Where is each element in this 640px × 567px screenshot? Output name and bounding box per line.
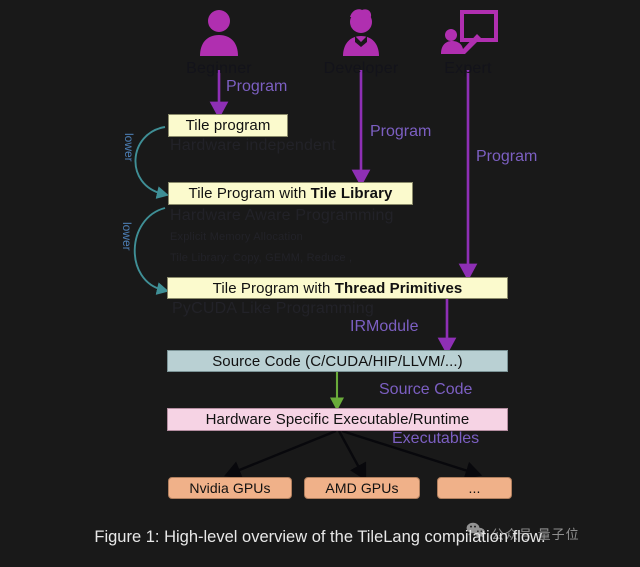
box-target-other[interactable]: ... — [437, 477, 512, 499]
box-hardware-specific-executable[interactable]: Hardware Specific Executable/Runtime — [167, 408, 508, 431]
figure-caption: Figure 1: High-level overview of the Til… — [0, 528, 640, 547]
box-tile-program[interactable]: Tile program — [168, 114, 288, 137]
box-tile-library-label: Tile Program with Tile Library — [189, 185, 393, 202]
persona-developer: Developer — [311, 8, 411, 78]
edge-label-lower-2: lower — [120, 222, 134, 251]
box-target-nvidia[interactable]: Nvidia GPUs — [168, 477, 292, 499]
arrow-lower-tile-program-to-tile-library — [135, 127, 165, 194]
edge-label-program-expert: Program — [476, 148, 537, 166]
box-tile-library[interactable]: Tile Program with Tile Library — [168, 182, 413, 205]
note-tile-library-ops: Tile Library: Copy, GEMM, Reduce , — [170, 252, 352, 264]
box-thread-primitives-bold: Thread Primitives — [335, 280, 463, 297]
edge-label-program-beginner: Program — [226, 78, 287, 96]
edge-label-source-code: Source Code — [379, 381, 472, 399]
persona-expert: Expert — [418, 8, 518, 78]
persona-label-developer: Developer — [311, 60, 411, 78]
box-tile-library-prefix: Tile Program with — [189, 185, 311, 202]
box-tile-program-label: Tile program — [186, 117, 271, 134]
edge-label-lower-1: lower — [122, 133, 136, 162]
note-pycuda-like-programming: PyCUDA Like Programming — [172, 300, 374, 318]
arrow-lower-tile-library-to-thread-primitives — [135, 208, 165, 290]
edge-label-executables: Executables — [392, 430, 479, 448]
box-target-amd-label: AMD GPUs — [325, 480, 398, 496]
box-source-code-label: Source Code (C/CUDA/HIP/LLVM/...) — [212, 353, 463, 370]
box-thread-primitives-prefix: Tile Program with — [213, 280, 335, 297]
box-target-other-label: ... — [469, 480, 481, 496]
box-thread-primitives-label: Tile Program with Thread Primitives — [213, 280, 463, 297]
box-target-nvidia-label: Nvidia GPUs — [189, 480, 270, 496]
box-executable-label: Hardware Specific Executable/Runtime — [206, 411, 470, 428]
figure-canvas: Beginner Developer Expert Program Progra… — [0, 0, 640, 567]
box-source-code[interactable]: Source Code (C/CUDA/HIP/LLVM/...) — [167, 350, 508, 372]
box-tile-library-bold: Tile Library — [311, 185, 393, 202]
developer-person-icon — [311, 8, 411, 58]
edge-label-program-developer: Program — [370, 123, 431, 141]
note-hardware-independent: Hardware independent — [170, 137, 336, 155]
box-thread-primitives[interactable]: Tile Program with Thread Primitives — [167, 277, 508, 299]
persona-label-beginner: Beginner — [169, 60, 269, 78]
user-silhouette-icon — [169, 8, 269, 58]
box-target-amd[interactable]: AMD GPUs — [304, 477, 420, 499]
persona-label-expert: Expert — [418, 60, 518, 78]
presenter-whiteboard-icon — [418, 8, 518, 58]
edge-label-irmodule: IRModule — [350, 318, 418, 336]
note-hardware-aware-programming: Hardware Aware Programming — [170, 207, 394, 225]
persona-beginner: Beginner — [169, 8, 269, 78]
arrow-executable-to-nvidia — [232, 431, 336, 473]
note-explicit-memory-allocation: Explicit Memory Allocation — [170, 231, 303, 243]
